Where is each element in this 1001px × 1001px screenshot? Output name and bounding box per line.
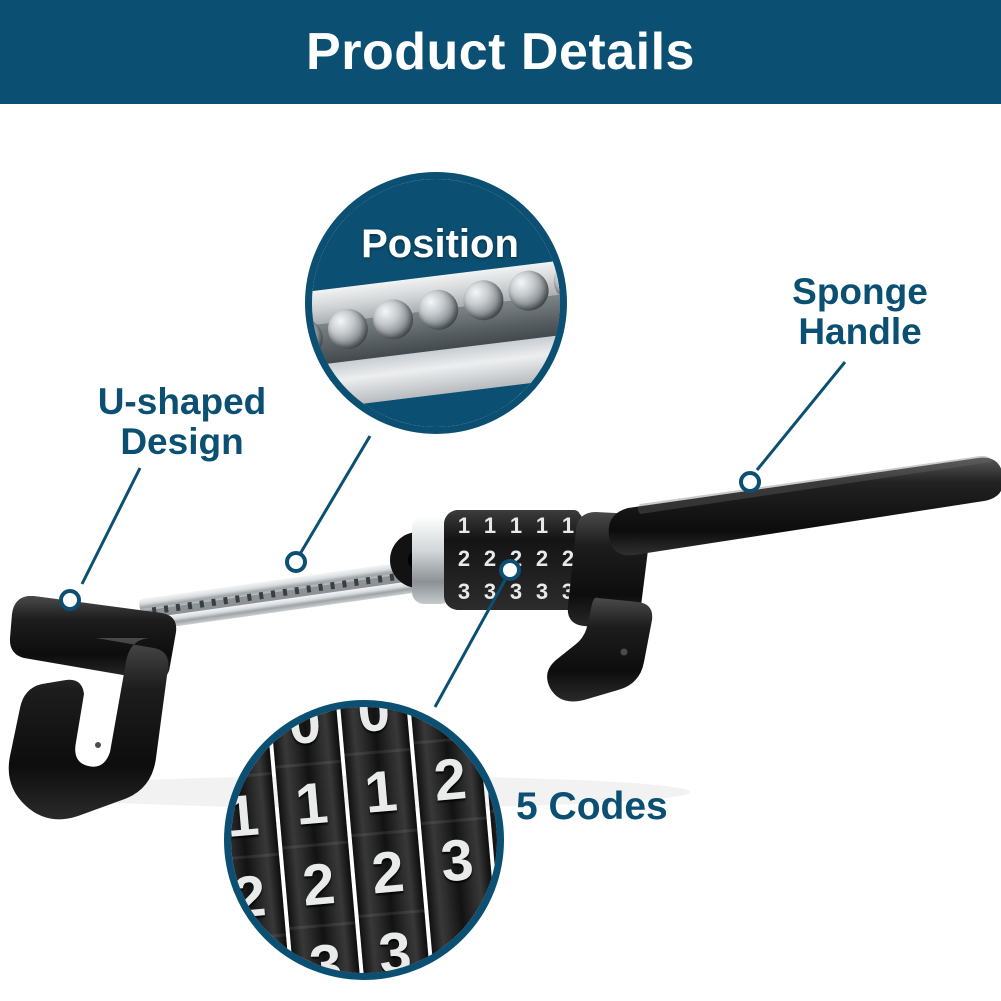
callout-label-u-shaped: U-shaped Design <box>62 382 302 462</box>
dot-position <box>287 553 305 571</box>
callout-label-position: Position <box>330 223 550 266</box>
leader-line-codes <box>435 580 505 707</box>
leader-line-u-shaped <box>82 468 140 584</box>
callout-overlay <box>0 0 1001 1001</box>
dot-sponge-handle <box>741 473 759 491</box>
product-details-page: Product Details <box>0 0 1001 1001</box>
dot-code-lock <box>501 561 519 579</box>
leader-line-position <box>300 436 370 554</box>
dot-u-shaped <box>61 591 79 609</box>
callout-label-5-codes: 5 Codes <box>516 786 726 828</box>
leader-line-sponge <box>757 362 845 470</box>
callout-label-sponge-handle: Sponge Handle <box>760 272 960 352</box>
